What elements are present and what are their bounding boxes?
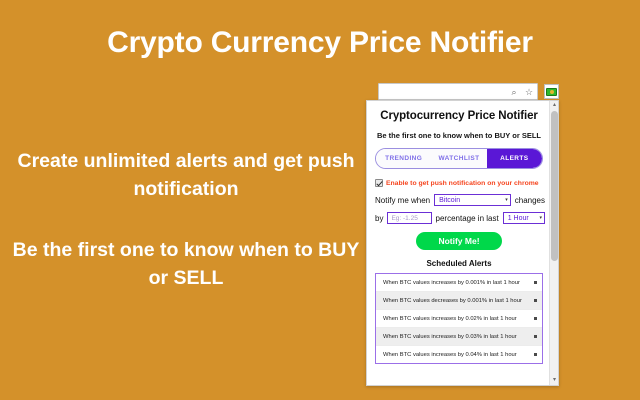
scrollbar-thumb[interactable] <box>551 111 558 261</box>
scroll-up-icon[interactable]: ▴ <box>550 101 559 110</box>
alert-text: When BTC values increases by 0.02% in la… <box>383 316 531 322</box>
tab-trending[interactable]: TRENDING <box>376 149 431 168</box>
period-select[interactable]: 1 Hour ▾ <box>503 212 545 224</box>
list-item[interactable]: When BTC values increases by 0.001% in l… <box>376 274 542 292</box>
enable-push-checkbox[interactable] <box>375 179 383 187</box>
coin-selection-row: Notify me when Bitcoin ▾ changes <box>375 194 545 206</box>
popup-subtitle: Be the first one to know when to BUY or … <box>373 131 545 140</box>
popup-content: Cryptocurrency Price Notifier Be the fir… <box>367 101 551 385</box>
address-bar[interactable]: ⌕ ☆ <box>378 83 538 100</box>
enable-push-label: Enable to get push notification on your … <box>386 180 539 187</box>
scheduled-alerts-list: When BTC values increases by 0.001% in l… <box>375 273 543 364</box>
alert-remove-icon[interactable] <box>534 281 537 284</box>
tab-watchlist[interactable]: WATCHLIST <box>431 149 486 168</box>
popup-scrollbar[interactable]: ▴ ▾ <box>549 101 558 385</box>
money-stack-icon[interactable] <box>544 84 559 99</box>
percentage-row: by Eg: -1.25 percentage in last 1 Hour ▾ <box>375 212 545 224</box>
chevron-down-icon: ▾ <box>539 216 542 221</box>
zoom-icon[interactable]: ⌕ <box>509 87 519 97</box>
money-stack-glyph <box>546 88 557 96</box>
push-notification-row: Enable to get push notification on your … <box>375 179 545 187</box>
period-select-value: 1 Hour <box>508 215 536 222</box>
page-root: Crypto Currency Price Notifier Create un… <box>0 0 640 400</box>
list-item[interactable]: When BTC values increases by 0.03% in la… <box>376 328 542 346</box>
percentage-input[interactable]: Eg: -1.25 <box>387 212 431 224</box>
coin-select-value: Bitcoin <box>439 197 501 204</box>
marketing-copy-paragraph-1: Create unlimited alerts and get push not… <box>12 148 360 203</box>
chevron-down-icon: ▾ <box>505 198 508 203</box>
by-label: by <box>375 214 383 223</box>
alert-text: When BTC values increases by 0.03% in la… <box>383 334 531 340</box>
tab-alerts[interactable]: ALERTS <box>487 149 542 168</box>
alert-text: When BTC values increases by 0.04% in la… <box>383 352 531 358</box>
alert-text: When BTC values increases by 0.001% in l… <box>383 280 531 286</box>
notify-me-when-label: Notify me when <box>375 196 430 205</box>
alert-text: When BTC values decreases by 0.001% in l… <box>383 298 531 304</box>
marketing-copy: Create unlimited alerts and get push not… <box>12 148 360 293</box>
scheduled-alerts-heading: Scheduled Alerts <box>373 259 545 268</box>
bookmark-star-icon[interactable]: ☆ <box>524 87 534 97</box>
coin-select[interactable]: Bitcoin ▾ <box>434 194 511 206</box>
alert-remove-icon[interactable] <box>534 335 537 338</box>
list-item[interactable]: When BTC values increases by 0.02% in la… <box>376 310 542 328</box>
popup-title: Cryptocurrency Price Notifier <box>373 110 545 122</box>
list-item[interactable]: When BTC values decreases by 0.001% in l… <box>376 292 542 310</box>
scroll-down-icon[interactable]: ▾ <box>550 376 559 385</box>
extension-popup: Cryptocurrency Price Notifier Be the fir… <box>366 100 559 386</box>
notify-me-button[interactable]: Notify Me! <box>416 232 501 250</box>
alert-remove-icon[interactable] <box>534 317 537 320</box>
alert-remove-icon[interactable] <box>534 299 537 302</box>
changes-label: changes <box>515 196 545 205</box>
page-title: Crypto Currency Price Notifier <box>0 26 640 59</box>
percentage-in-last-label: percentage in last <box>436 214 499 223</box>
list-item[interactable]: When BTC values increases by 0.04% in la… <box>376 346 542 363</box>
notify-button-row: Notify Me! <box>373 232 545 250</box>
alert-remove-icon[interactable] <box>534 353 537 356</box>
tab-bar: TRENDING WATCHLIST ALERTS <box>375 148 543 169</box>
marketing-copy-paragraph-2: Be the first one to know when to BUY or … <box>12 237 360 292</box>
